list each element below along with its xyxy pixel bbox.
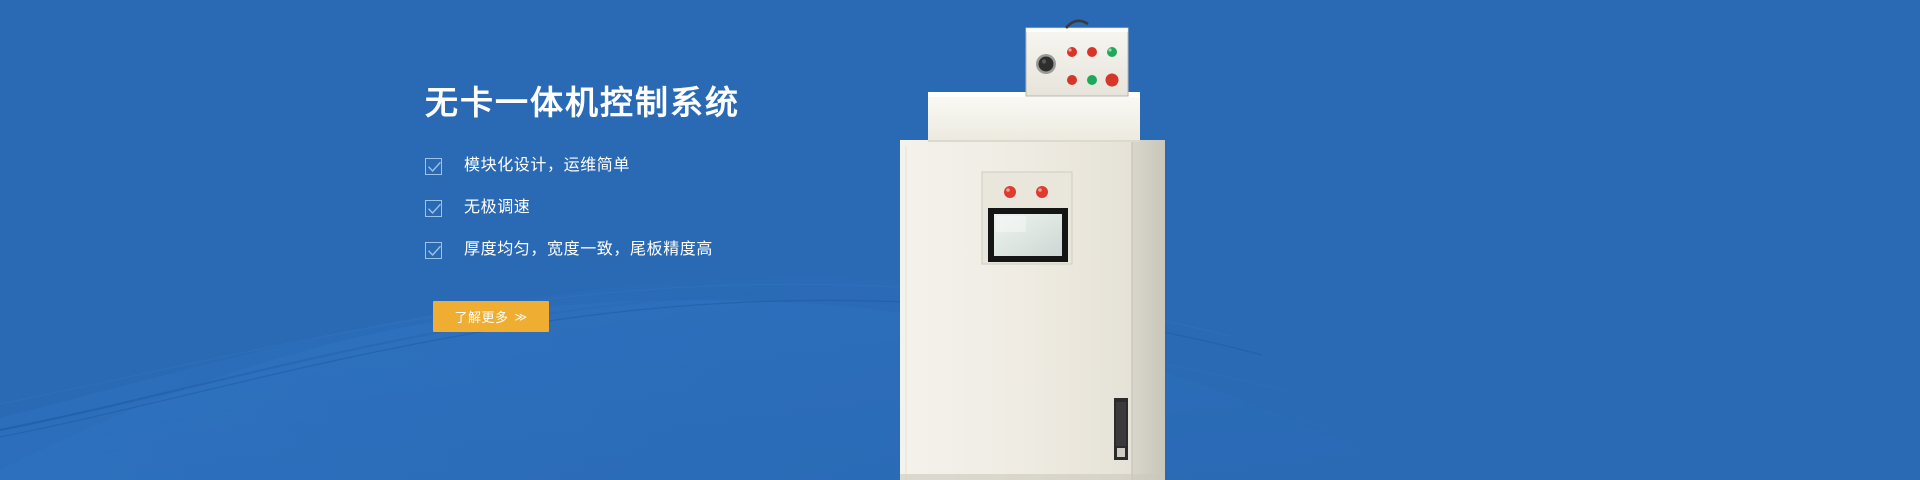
hmi-panel-recess [982, 172, 1072, 264]
panel-lamp-red-2 [1036, 186, 1048, 198]
indicator-green-1 [1107, 47, 1117, 57]
learn-more-button[interactable]: 了解更多 ≫ [433, 301, 549, 332]
product-photo-control-cabinet [870, 0, 1210, 480]
learn-more-label: 了解更多 [454, 307, 508, 326]
checkbox-check-icon [425, 242, 442, 259]
feature-label: 无极调速 [464, 197, 530, 219]
indicator-green-2 [1087, 75, 1097, 85]
cabinet-base-shadow [900, 474, 1165, 480]
cabinet-vent [1114, 398, 1128, 460]
chevron-right-icon: ≫ [514, 310, 527, 324]
hero-banner: 无卡一体机控制系统 模块化设计，运维简单 无极调速 [0, 0, 1920, 480]
feature-label: 模块化设计，运维简单 [464, 155, 630, 177]
indicator-red-1 [1067, 47, 1077, 57]
indicator-red-2 [1087, 47, 1097, 57]
feature-label: 厚度均匀，宽度一致，尾板精度高 [464, 239, 713, 261]
checkbox-check-icon [425, 200, 442, 217]
indicator-red-3 [1067, 75, 1077, 85]
cable-nub [1066, 21, 1088, 28]
panel-lamp-red-1 [1004, 186, 1016, 198]
checkbox-check-icon [425, 158, 442, 175]
cabinet-top-cap [928, 92, 1140, 142]
top-control-box [1026, 21, 1128, 96]
indicator-red-4 [1106, 74, 1119, 87]
